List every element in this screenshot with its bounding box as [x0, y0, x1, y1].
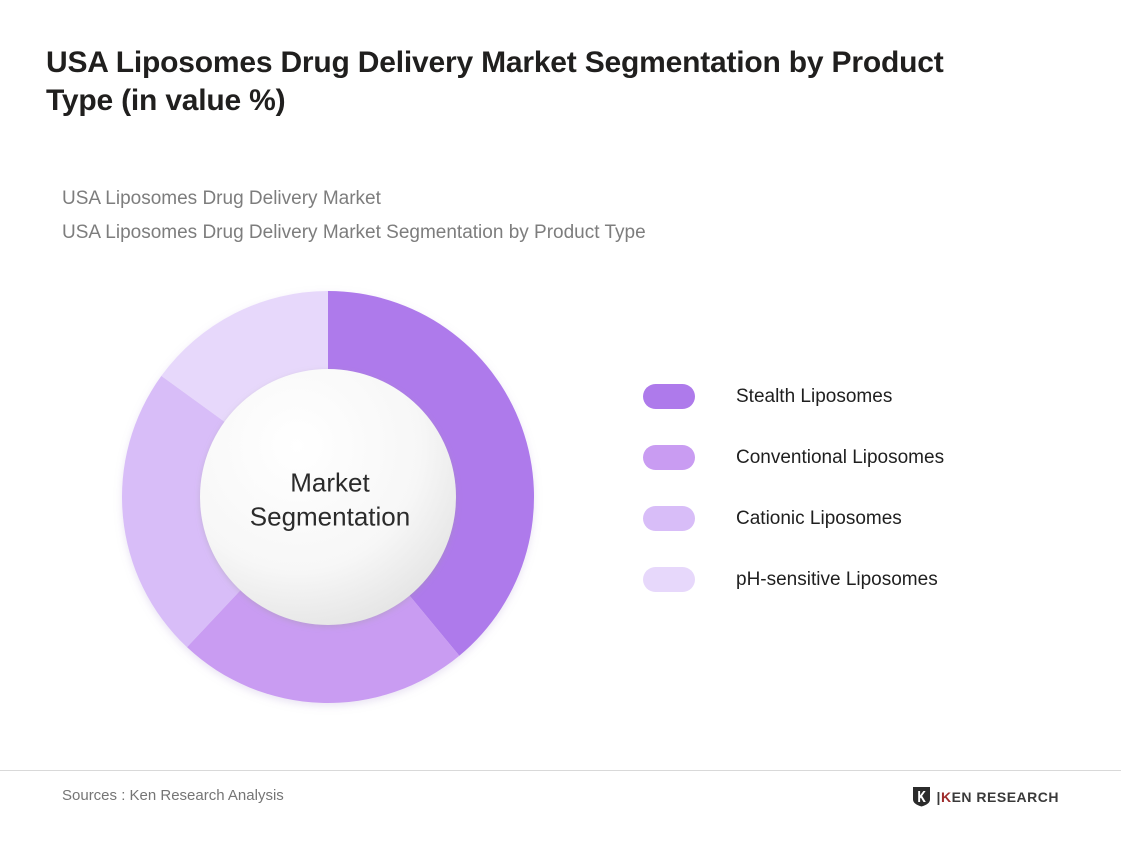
- legend-swatch: [643, 445, 695, 470]
- brand-wordmark: |KEN RESEARCH: [937, 789, 1059, 805]
- brand-name-rest: EN RESEARCH: [952, 789, 1059, 805]
- shield-k-icon: [912, 786, 931, 807]
- page-title: USA Liposomes Drug Delivery Market Segme…: [46, 44, 1006, 121]
- legend-label: Stealth Liposomes: [736, 386, 892, 408]
- legend-swatch: [643, 567, 695, 592]
- donut-center-hole: [200, 369, 456, 625]
- footer-divider: [0, 770, 1121, 771]
- subtitle-line-1: USA Liposomes Drug Delivery Market: [62, 182, 962, 216]
- legend-item[interactable]: pH-sensitive Liposomes: [643, 549, 944, 610]
- slide-root: USA Liposomes Drug Delivery Market Segme…: [0, 0, 1121, 841]
- footer-source-text: Sources : Ken Research Analysis: [62, 787, 284, 804]
- ken-research-logo: |KEN RESEARCH: [912, 786, 1059, 807]
- legend-swatch: [643, 384, 695, 409]
- legend-item[interactable]: Conventional Liposomes: [643, 427, 944, 488]
- legend-label: pH-sensitive Liposomes: [736, 569, 938, 591]
- subtitle-block: USA Liposomes Drug Delivery Market USA L…: [62, 182, 962, 250]
- legend-item[interactable]: Cationic Liposomes: [643, 488, 944, 549]
- brand-letter-k: K: [941, 789, 952, 805]
- subtitle-line-2: USA Liposomes Drug Delivery Market Segme…: [62, 216, 962, 250]
- legend-item[interactable]: Stealth Liposomes: [643, 366, 944, 427]
- legend-swatch: [643, 506, 695, 531]
- legend-label: Conventional Liposomes: [736, 447, 944, 469]
- legend-label: Cationic Liposomes: [736, 508, 902, 530]
- donut-svg: [110, 280, 550, 720]
- donut-chart: Market Segmentation: [110, 280, 550, 720]
- chart-legend: Stealth LiposomesConventional LiposomesC…: [643, 366, 944, 610]
